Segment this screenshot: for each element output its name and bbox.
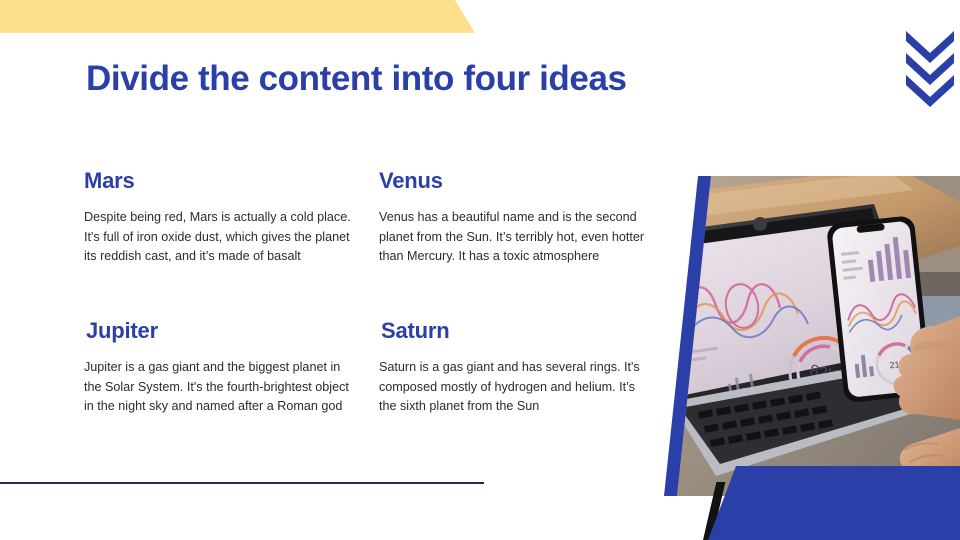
- idea-block-saturn: Saturn Saturn is a gas giant and has sev…: [379, 318, 664, 417]
- bottom-divider-line: [0, 482, 484, 484]
- idea-body: Jupiter is a gas giant and the biggest p…: [84, 358, 352, 417]
- idea-body: Saturn is a gas giant and has several ri…: [379, 358, 647, 417]
- idea-heading: Saturn: [381, 318, 654, 344]
- ideas-grid: Mars Despite being red, Mars is actually…: [84, 168, 664, 417]
- bottom-right-blue-block: [700, 466, 960, 540]
- idea-body: Despite being red, Mars is actually a co…: [84, 208, 352, 267]
- idea-body: Venus has a beautiful name and is the se…: [379, 208, 647, 267]
- idea-block-mars: Mars Despite being red, Mars is actually…: [84, 168, 379, 318]
- idea-heading: Mars: [84, 168, 369, 194]
- top-yellow-banner: [0, 0, 475, 33]
- idea-heading: Venus: [379, 168, 654, 194]
- chevron-down-icon: [906, 31, 954, 63]
- idea-heading: Jupiter: [86, 318, 369, 344]
- chevron-down-icon-stack: [906, 31, 954, 107]
- idea-block-jupiter: Jupiter Jupiter is a gas giant and the b…: [84, 318, 379, 417]
- idea-block-venus: Venus Venus has a beautiful name and is …: [379, 168, 664, 318]
- page-title: Divide the content into four ideas: [86, 57, 627, 101]
- presentation-slide: Divide the content into four ideas Mars …: [0, 0, 960, 540]
- photo-image: 82K: [664, 176, 960, 496]
- photo-panel: 82K: [664, 176, 960, 496]
